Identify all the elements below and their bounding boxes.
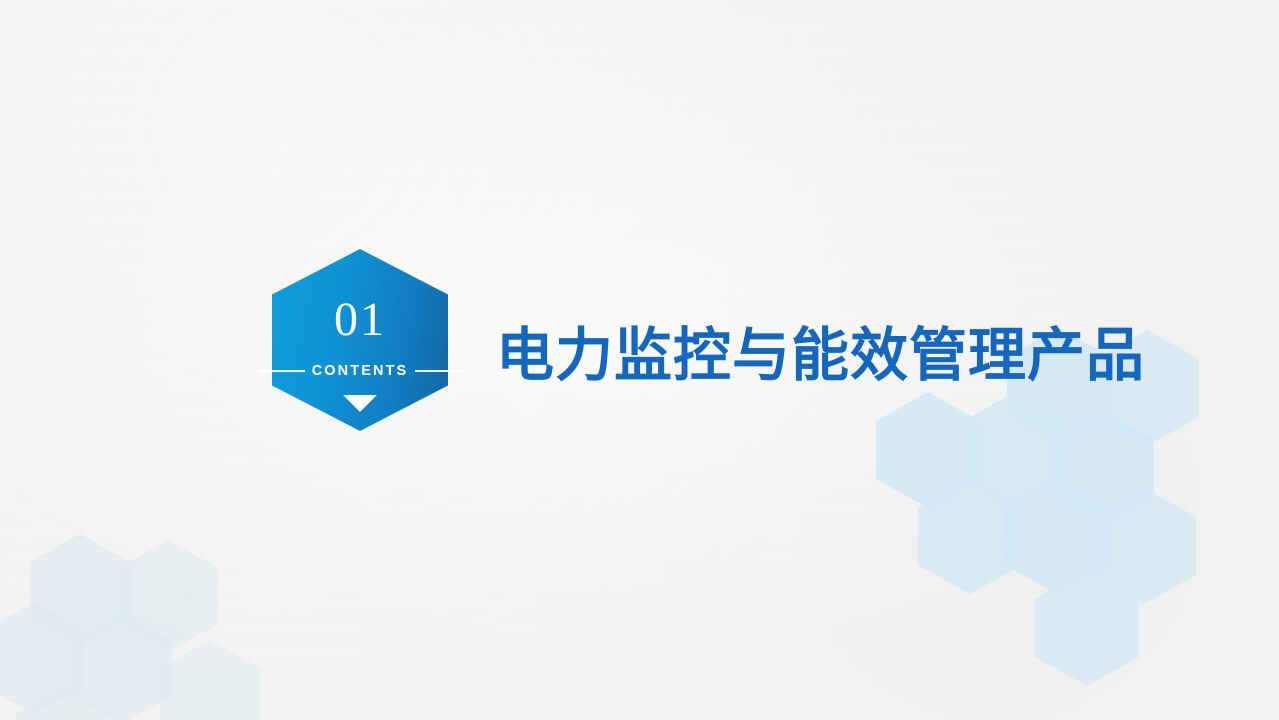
- hexagon-decoration: [1005, 478, 1109, 594]
- section-number-badge[interactable]: 01 CONTENTS: [272, 249, 448, 431]
- hexagon-decoration: [963, 392, 1067, 508]
- hexagon-decoration: [876, 392, 980, 508]
- section-number: 01: [272, 296, 448, 344]
- hexagon-decoration: [1035, 570, 1139, 686]
- hexagon-decoration: [30, 534, 130, 646]
- hexagon-decoration: [72, 612, 172, 720]
- divider-rule-right: [415, 370, 462, 372]
- hexagon-decoration: [1092, 488, 1196, 604]
- hexagon-decoration: [16, 686, 116, 720]
- contents-divider-row: CONTENTS: [258, 362, 462, 380]
- page-title: 电力监控与能效管理产品: [496, 327, 1145, 385]
- slide-canvas: 01 CONTENTS 电力监控与能效管理产品: [0, 0, 1279, 720]
- triangle-down-icon: [343, 395, 377, 412]
- hexagon-decoration: [918, 478, 1022, 594]
- hexagon-decoration: [160, 640, 260, 720]
- hexagon-decoration: [0, 602, 84, 714]
- divider-rule-left: [258, 370, 305, 372]
- hexagon-decoration: [118, 540, 218, 652]
- contents-label: CONTENTS: [305, 364, 416, 379]
- hexagon-decoration: [1050, 410, 1154, 526]
